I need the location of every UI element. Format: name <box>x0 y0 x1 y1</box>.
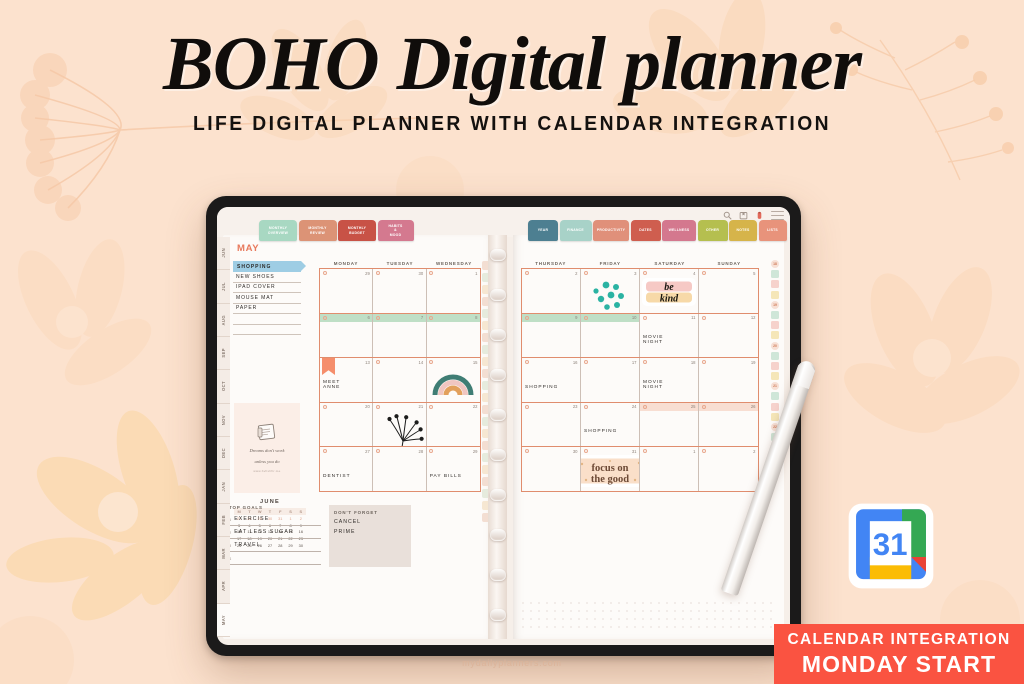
calendar-day-cell[interactable]: 1 <box>640 447 699 491</box>
binder-ring <box>490 289 506 301</box>
day-marker-icon[interactable] <box>525 271 529 275</box>
svg-text:focus on: focus on <box>591 463 628 474</box>
tab-label-part: MOOD <box>390 233 402 238</box>
left-calendar: MONDAYTUESDAYWEDNESDAY 2930167813MEET AN… <box>319 257 481 492</box>
rainbow-sticker[interactable] <box>431 370 475 396</box>
month-tab-dec[interactable]: DEC <box>217 437 230 470</box>
header: BOHO Digital planner LIFE DIGITAL PLANNE… <box>0 26 1024 136</box>
day-marker-icon[interactable] <box>525 316 529 320</box>
day-number: 30 <box>419 271 424 276</box>
day-marker-icon[interactable] <box>323 405 327 409</box>
focus-on-the-good-sticker[interactable]: focus onthe good <box>581 454 640 488</box>
tab-monthly-budget[interactable]: MONTHLYBUDGET <box>338 220 376 241</box>
day-number: 13 <box>365 360 370 365</box>
toolbar-icons <box>723 211 784 220</box>
month-tab-nov[interactable]: NOV <box>217 404 230 437</box>
month-tab-label: SEP <box>221 348 226 358</box>
day-event-text[interactable]: DENTIST <box>323 474 351 479</box>
calendar-day-cell[interactable]: 2 <box>522 269 581 313</box>
calendar-day-cell[interactable]: 29PAY BILLS <box>427 447 480 491</box>
google-calendar-icon: 31 <box>845 500 937 592</box>
day-number: 9 <box>575 315 577 320</box>
rail-flower-sticker-icon[interactable] <box>771 372 779 380</box>
day-number: 29 <box>365 271 370 276</box>
shopping-list-title: SHOPPING <box>237 264 271 270</box>
day-event-text[interactable]: SHOPPING <box>525 385 558 390</box>
quote-line-1: Dreams don't work <box>249 447 284 454</box>
top-goal-text: EXERCISE <box>234 516 269 522</box>
top-goal-row[interactable]: 4 <box>229 552 321 565</box>
calendar-day-cell[interactable]: 4bekind <box>640 269 699 313</box>
day-marker-icon[interactable] <box>643 449 647 453</box>
day-marker-icon[interactable] <box>525 449 529 453</box>
notebook-icon <box>256 423 278 443</box>
calendar-weekday-monday: MONDAY <box>319 257 373 268</box>
rail-flower-sticker-icon[interactable] <box>771 331 779 339</box>
calendar-day-cell[interactable]: 24SHOPPING <box>581 403 640 447</box>
rail-calendar-sticker-icon[interactable] <box>771 352 779 360</box>
month-tab-jun[interactable]: JUN <box>217 237 230 270</box>
calendar-day-cell[interactable]: 6 <box>320 314 373 358</box>
top-goals-block[interactable]: TOP GOALS 1EXERCISE2EAT LESS SUGAR3TRAVE… <box>229 505 321 565</box>
month-tab-may[interactable]: MAY <box>217 604 230 637</box>
rail-calendar-sticker-icon[interactable] <box>771 311 779 319</box>
month-tab-apr[interactable]: APR <box>217 570 230 603</box>
promo-banner: CALENDAR INTEGRATION MONDAY START <box>774 624 1024 684</box>
calendar-day-cell[interactable]: 27DENTIST <box>320 447 373 491</box>
day-marker-icon[interactable] <box>323 271 327 275</box>
day-number: 30 <box>573 449 578 454</box>
rail-flower-sticker-icon[interactable] <box>771 413 779 421</box>
day-marker-icon[interactable] <box>429 360 433 364</box>
calendar-day-cell[interactable]: 20 <box>320 403 373 447</box>
shopping-list-item[interactable]: MOUSE MAT <box>233 293 301 304</box>
tab-other[interactable]: OTHER <box>698 220 728 241</box>
day-marker-icon[interactable] <box>584 405 588 409</box>
calendar-weekday-friday: FRIDAY <box>581 257 641 268</box>
bookmark-flag-icon <box>322 358 335 375</box>
dont-forget-title: DON'T FORGET <box>334 510 406 515</box>
top-goal-text: TRAVEL <box>234 542 260 548</box>
tab-label-part: YEAR <box>538 228 548 233</box>
rail-calendar-sticker-icon[interactable] <box>771 392 779 400</box>
calendar-day-cell[interactable]: 5 <box>699 269 758 313</box>
day-number: 24 <box>632 404 637 409</box>
day-marker-icon[interactable] <box>429 405 433 409</box>
calendar-day-cell[interactable]: 8 <box>427 314 480 358</box>
rail-flower-sticker-icon[interactable] <box>771 291 779 299</box>
calendar-day-cell[interactable]: 2 <box>699 447 758 491</box>
day-event-text[interactable]: MOVIE NIGHT <box>643 335 663 345</box>
binder-ring <box>490 489 506 501</box>
calendar-day-cell[interactable]: 12 <box>699 314 758 358</box>
day-marker-icon[interactable] <box>643 360 647 364</box>
calendar-week-row: 234bekind5 <box>522 269 758 314</box>
calendar-day-cell[interactable]: 1 <box>427 269 480 313</box>
rail-date-icon[interactable]: 21 <box>771 382 779 390</box>
binder-ring <box>490 329 506 341</box>
tab-monthly-overview[interactable]: MONTHLYOVERVIEW <box>259 220 297 241</box>
day-marker-icon[interactable] <box>525 360 529 364</box>
rail-calendar-sticker-icon[interactable] <box>771 403 779 411</box>
month-tab-label: DEC <box>221 448 226 458</box>
calendar-week-row: 29301 <box>320 269 480 314</box>
tablet-device: MONTHLYOVERVIEWMONTHLYREVIEWMONTHLYBUDGE… <box>206 196 801 656</box>
quote-url: www.bvllshftr.me <box>253 469 280 473</box>
calendar-day-cell[interactable]: 26 <box>699 403 758 447</box>
day-marker-icon[interactable] <box>702 316 706 320</box>
day-event-text[interactable]: SHOPPING <box>584 429 617 434</box>
calendar-week-row: 91011MOVIE NIGHT12 <box>522 314 758 359</box>
day-marker-icon[interactable] <box>429 271 433 275</box>
day-marker-icon[interactable] <box>376 360 380 364</box>
month-tab-oct[interactable]: OCT <box>217 370 230 403</box>
calendar-week-row: 2324SHOPPING2526 <box>522 403 758 448</box>
calendar-day-cell[interactable]: 14 <box>373 358 426 402</box>
tab-notes[interactable]: NOTES <box>729 220 757 241</box>
rail-calendar-sticker-icon[interactable] <box>771 321 779 329</box>
tablet-screen: MONTHLYOVERVIEWMONTHLYREVIEWMONTHLYBUDGE… <box>217 207 790 645</box>
day-marker-icon[interactable] <box>643 271 647 275</box>
tab-finance[interactable]: FINANCE <box>560 220 592 241</box>
menu-icon[interactable] <box>771 211 784 220</box>
promo-line-2: MONDAY START <box>802 651 996 678</box>
day-number: 19 <box>751 360 756 365</box>
month-tab-label: MAR <box>221 548 226 559</box>
day-highlight-band <box>640 403 698 411</box>
day-number: 8 <box>475 315 477 320</box>
calendar-day-cell[interactable]: 23 <box>522 403 581 447</box>
day-marker-icon[interactable] <box>584 360 588 364</box>
bookmark-icon[interactable] <box>739 211 748 220</box>
planner-left-page: MAY SHOPPING NEW SHOESIPAD COVERMOUSE MA… <box>223 235 494 639</box>
binder-ring <box>490 569 506 581</box>
day-marker-icon[interactable] <box>584 271 588 275</box>
shopping-item-label: MOUSE MAT <box>236 295 274 301</box>
day-marker-icon[interactable] <box>584 449 588 453</box>
right-calendar-grid[interactable]: 234bekind591011MOVIE NIGHT1216SHOPPING17… <box>521 268 759 492</box>
binder-ring <box>490 529 506 541</box>
calendar-day-cell[interactable]: 29 <box>320 269 373 313</box>
day-number: 12 <box>751 315 756 320</box>
calendar-week-row: 27DENTIST2829PAY BILLS <box>320 447 480 492</box>
day-marker-icon[interactable] <box>376 316 380 320</box>
day-marker-icon[interactable] <box>702 360 706 364</box>
day-highlight-band <box>522 314 580 322</box>
tab-label-part: NOTES <box>737 228 750 233</box>
binder-ring <box>490 409 506 421</box>
calendar-week-row: 678 <box>320 314 480 359</box>
month-tab-feb[interactable]: FEB <box>217 504 230 537</box>
dont-forget-block[interactable]: DON'T FORGET CANCEL PRIME <box>329 505 411 567</box>
month-tab-mar[interactable]: MAR <box>217 537 230 570</box>
day-number: 22 <box>473 404 478 409</box>
top-goals-rows: 1EXERCISE2EAT LESS SUGAR3TRAVEL4 <box>229 513 321 565</box>
left-calendar-weekdays: MONDAYTUESDAYWEDNESDAY <box>319 257 481 268</box>
left-page-tab-strip: MONTHLYOVERVIEWMONTHLYREVIEWMONTHLYBUDGE… <box>259 220 414 241</box>
month-side-tabs: JUNJULAUGSEPOCTNOVDECJANFEBMARAPRMAY <box>217 237 230 637</box>
day-number: 16 <box>573 360 578 365</box>
day-number: 1 <box>693 449 695 454</box>
calendar-day-cell[interactable]: 15 <box>427 358 480 402</box>
right-calendar: THURSDAYFRIDAYSATURDAYSUNDAY 234bekind59… <box>521 257 759 492</box>
shopping-item-label: IPAD COVER <box>236 284 275 290</box>
calendar-day-cell[interactable]: 10 <box>581 314 640 358</box>
day-number: 27 <box>365 449 370 454</box>
right-calendar-weekdays: THURSDAYFRIDAYSATURDAYSUNDAY <box>521 257 759 268</box>
calendar-day-cell[interactable]: 31focus onthe good <box>581 447 640 491</box>
page-subtitle: LIFE DIGITAL PLANNER WITH CALENDAR INTEG… <box>31 112 994 136</box>
day-marker-icon[interactable] <box>584 316 588 320</box>
calendar-weekday-sunday: SUNDAY <box>700 257 760 268</box>
day-number: 15 <box>473 360 478 365</box>
calendar-day-cell[interactable]: 3 <box>581 269 640 313</box>
shopping-list-item[interactable]: IPAD COVER <box>233 283 301 294</box>
day-marker-icon[interactable] <box>323 449 327 453</box>
month-tab-label: NOV <box>221 415 226 425</box>
month-tab-jan[interactable]: JAN <box>217 470 230 503</box>
dandelion-sticker[interactable] <box>379 407 426 447</box>
tab-label-part: BUDGET <box>349 231 365 236</box>
right-page-tab-strip: YEARFINANCEPRODUCTIVITYDATESWELLNESSOTHE… <box>528 220 787 241</box>
day-marker-icon[interactable] <box>323 316 327 320</box>
page-title: BOHO Digital planner <box>0 26 1024 102</box>
shopping-list-banner: SHOPPING <box>233 261 301 272</box>
calendar-badge-day: 31 <box>873 527 908 562</box>
calendar-day-cell[interactable]: 9 <box>522 314 581 358</box>
svg-text:kind: kind <box>660 294 679 305</box>
month-tab-label: APR <box>221 581 226 591</box>
tab-label-part: REVIEW <box>310 231 325 236</box>
day-number: 23 <box>573 404 578 409</box>
day-number: 18 <box>691 360 696 365</box>
day-marker-icon[interactable] <box>429 316 433 320</box>
calendar-day-cell[interactable]: 18MOVIE NIGHT <box>640 358 699 402</box>
day-marker-icon[interactable] <box>525 405 529 409</box>
day-highlight-band <box>373 314 425 322</box>
calendar-week-row: 13MEET ANNE1415 <box>320 358 480 403</box>
month-tab-label: FEB <box>221 515 226 525</box>
shopping-list-items: NEW SHOESIPAD COVERMOUSE MATPAPER <box>233 272 301 335</box>
day-marker-icon[interactable] <box>702 405 706 409</box>
tab-label-part: DATES <box>639 228 652 233</box>
dont-forget-line-2: PRIME <box>334 528 406 538</box>
month-tab-label: AUG <box>221 315 226 326</box>
day-event-text[interactable]: MOVIE NIGHT <box>643 380 663 390</box>
top-goals-title: TOP GOALS <box>229 505 321 510</box>
tab-label-part: PRODUCTIVITY <box>597 228 625 233</box>
shopping-item-label: NEW SHOES <box>236 274 275 280</box>
day-event-text[interactable]: MEET ANNE <box>323 380 340 390</box>
day-number: 11 <box>691 315 695 320</box>
binder-ring <box>490 369 506 381</box>
tab-label-part: OTHER <box>706 228 719 233</box>
top-goal-row[interactable]: 2EAT LESS SUGAR <box>229 526 321 539</box>
tab-lists[interactable]: LISTS <box>759 220 787 241</box>
tab-wellness[interactable]: WELLNESS <box>662 220 696 241</box>
calendar-day-cell[interactable]: 16SHOPPING <box>522 358 581 402</box>
search-icon[interactable] <box>723 211 732 220</box>
day-number: 14 <box>419 360 424 365</box>
tab-productivity[interactable]: PRODUCTIVITY <box>593 220 629 241</box>
calendar-day-cell[interactable]: 17 <box>581 358 640 402</box>
shopping-list-item[interactable]: PAPER <box>233 304 301 315</box>
calendar-day-cell[interactable]: 25 <box>640 403 699 447</box>
calendar-day-cell[interactable]: 28 <box>373 447 426 491</box>
day-number: 26 <box>751 404 756 409</box>
day-number: 2 <box>575 271 577 276</box>
tab-habits-mood[interactable]: HABITS&MOOD <box>378 220 414 241</box>
quote-line-2: unless you do <box>254 458 279 465</box>
tab-monthly-review[interactable]: MONTHLYREVIEW <box>299 220 337 241</box>
left-calendar-grid[interactable]: 2930167813MEET ANNE141520212227DENTIST28… <box>319 268 481 492</box>
day-marker-icon[interactable] <box>643 405 647 409</box>
calendar-weekday-saturday: SATURDAY <box>640 257 700 268</box>
month-label: MAY <box>237 243 259 254</box>
day-event-text[interactable]: PAY BILLS <box>430 474 462 479</box>
month-tab-label: JAN <box>221 482 226 492</box>
day-number: 1 <box>475 271 477 276</box>
day-number: 4 <box>693 271 695 276</box>
month-tab-jul[interactable]: JUL <box>217 270 230 303</box>
shopping-list-item[interactable]: NEW SHOES <box>233 272 301 283</box>
calendar-weekday-thursday: THURSDAY <box>521 257 581 268</box>
marker-icon[interactable] <box>755 211 764 220</box>
promo-line-1: CALENDAR INTEGRATION <box>788 631 1011 649</box>
day-highlight-band <box>427 314 480 322</box>
tab-year[interactable]: YEAR <box>528 220 558 241</box>
calendar-week-row: 16SHOPPING1718MOVIE NIGHT19 <box>522 358 758 403</box>
tab-label-part: LISTS <box>767 228 778 233</box>
day-marker-icon[interactable] <box>376 449 380 453</box>
day-number: 3 <box>634 271 636 276</box>
day-number: 10 <box>632 315 637 320</box>
day-number: 29 <box>473 449 478 454</box>
svg-text:the good: the good <box>591 474 629 485</box>
shopping-item-label: PAPER <box>236 305 257 311</box>
rail-calendar-sticker-icon[interactable] <box>771 362 779 370</box>
rail-calendar-sticker-icon[interactable] <box>771 280 779 288</box>
month-tab-label: OCT <box>221 381 226 391</box>
day-highlight-band <box>320 314 372 322</box>
day-number: 2 <box>753 449 755 454</box>
calendar-day-cell[interactable]: 30 <box>522 447 581 491</box>
binder-ring <box>490 249 506 261</box>
calendar-weekday-tuesday: TUESDAY <box>373 257 427 268</box>
day-highlight-band <box>699 403 758 411</box>
day-number: 6 <box>368 315 370 320</box>
day-number: 7 <box>421 315 423 320</box>
month-tab-label: JUL <box>221 282 226 291</box>
calendar-day-cell[interactable]: 13MEET ANNE <box>320 358 373 402</box>
day-marker-icon[interactable] <box>429 449 433 453</box>
month-tab-label: MAY <box>221 615 226 625</box>
month-tab-aug[interactable]: AUG <box>217 304 230 337</box>
calendar-weekday-wednesday: WEDNESDAY <box>427 257 481 268</box>
tab-label-part: OVERVIEW <box>268 231 288 236</box>
calendar-day-cell[interactable]: 22 <box>427 403 480 447</box>
rail-calendar-sticker-icon[interactable] <box>771 270 779 278</box>
rail-date-icon[interactable]: 19 <box>771 301 779 309</box>
top-goal-row[interactable]: 3TRAVEL <box>229 539 321 552</box>
shopping-list-item[interactable] <box>233 325 301 336</box>
day-number: 25 <box>691 404 696 409</box>
rail-date-icon[interactable]: 18 <box>771 260 779 268</box>
dot-cluster-sticker[interactable] <box>587 278 633 313</box>
dotted-notes-area[interactable] <box>519 599 778 633</box>
day-highlight-band <box>581 314 639 322</box>
calendar-day-cell[interactable]: 30 <box>373 269 426 313</box>
day-number: 5 <box>753 271 755 276</box>
shopping-list[interactable]: SHOPPING NEW SHOESIPAD COVERMOUSE MATPAP… <box>233 261 301 335</box>
day-number: 28 <box>419 449 424 454</box>
month-tab-sep[interactable]: SEP <box>217 337 230 370</box>
binder-ring <box>490 609 506 621</box>
calendar-week-row: 3031focus onthe good12 <box>522 447 758 492</box>
day-number: 20 <box>365 404 370 409</box>
tab-label-part: FINANCE <box>567 228 584 233</box>
calendar-day-cell[interactable]: 21 <box>373 403 426 447</box>
calendar-day-cell[interactable]: 11MOVIE NIGHT <box>640 314 699 358</box>
top-goal-row[interactable]: 1EXERCISE <box>229 513 321 526</box>
day-marker-icon[interactable] <box>643 316 647 320</box>
day-number: 31 <box>632 449 637 454</box>
calendar-week-row: 202122 <box>320 403 480 448</box>
tab-label-part: WELLNESS <box>669 228 690 233</box>
svg-text:be: be <box>664 282 674 293</box>
top-goal-text: EAT LESS SUGAR <box>234 529 294 535</box>
month-tab-label: JUN <box>221 248 226 258</box>
binder-rings <box>488 235 507 639</box>
calendar-day-cell[interactable]: 7 <box>373 314 426 358</box>
shopping-list-item[interactable] <box>233 314 301 325</box>
day-marker-icon[interactable] <box>702 271 706 275</box>
day-marker-icon[interactable] <box>376 271 380 275</box>
day-number: 17 <box>632 360 637 365</box>
quote-card: Dreams don't work unless you do www.bvll… <box>234 403 300 493</box>
rail-date-icon[interactable]: 20 <box>771 342 779 350</box>
binder-ring <box>490 449 506 461</box>
dont-forget-line-1: CANCEL <box>334 518 406 528</box>
be-kind-sticker[interactable]: bekind <box>641 277 697 307</box>
day-marker-icon[interactable] <box>702 449 706 453</box>
calendar-day-cell[interactable]: 19 <box>699 358 758 402</box>
tab-dates[interactable]: DATES <box>631 220 661 241</box>
